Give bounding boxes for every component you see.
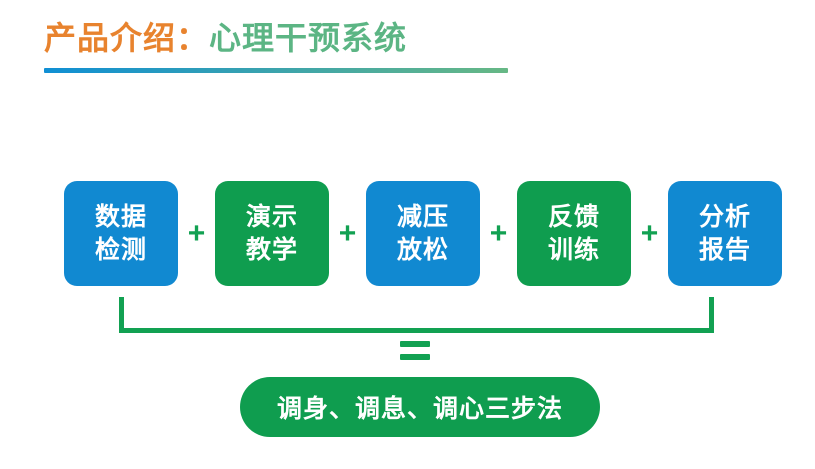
step-box-3-line1: 减压 (397, 201, 449, 234)
step-box-2[interactable]: 演示 教学 (215, 181, 329, 286)
step-box-4[interactable]: 反馈 训练 (517, 181, 631, 286)
title-block: 产品介绍：心理干预系统 (44, 14, 684, 74)
plus-icon-1: + (183, 219, 211, 249)
equals-icon (400, 341, 434, 367)
step-box-1-line1: 数据 (95, 201, 147, 234)
steps-row: 数据 检测 + 演示 教学 + 减压 放松 + 反馈 训练 + 分析 报告 (64, 181, 782, 286)
step-box-5-line1: 分析 (699, 201, 751, 234)
step-box-1-line2: 检测 (95, 234, 147, 267)
step-box-3[interactable]: 减压 放松 (366, 181, 480, 286)
page-title-prefix: 产品介绍： (44, 20, 209, 56)
page-title: 产品介绍：心理干预系统 (44, 14, 684, 62)
step-box-4-line1: 反馈 (548, 201, 600, 234)
step-box-5[interactable]: 分析 报告 (668, 181, 782, 286)
plus-icon-3: + (485, 219, 513, 249)
grouping-bracket (119, 297, 714, 333)
step-box-5-line2: 报告 (699, 234, 751, 267)
page-title-suffix: 心理干预系统 (209, 20, 407, 56)
title-underline-rule (44, 68, 508, 73)
step-box-2-line1: 演示 (246, 201, 298, 234)
result-pill[interactable]: 调身、调息、调心三步法 (240, 377, 600, 437)
plus-icon-4: + (636, 219, 664, 249)
result-pill-label: 调身、调息、调心三步法 (277, 389, 563, 425)
step-box-3-line2: 放松 (397, 234, 449, 267)
step-box-1[interactable]: 数据 检测 (64, 181, 178, 286)
plus-icon-2: + (334, 219, 362, 249)
equals-icon-bar-top (400, 341, 430, 347)
step-box-4-line2: 训练 (548, 234, 600, 267)
equals-icon-bar-bottom (400, 354, 430, 360)
step-box-2-line2: 教学 (246, 234, 298, 267)
